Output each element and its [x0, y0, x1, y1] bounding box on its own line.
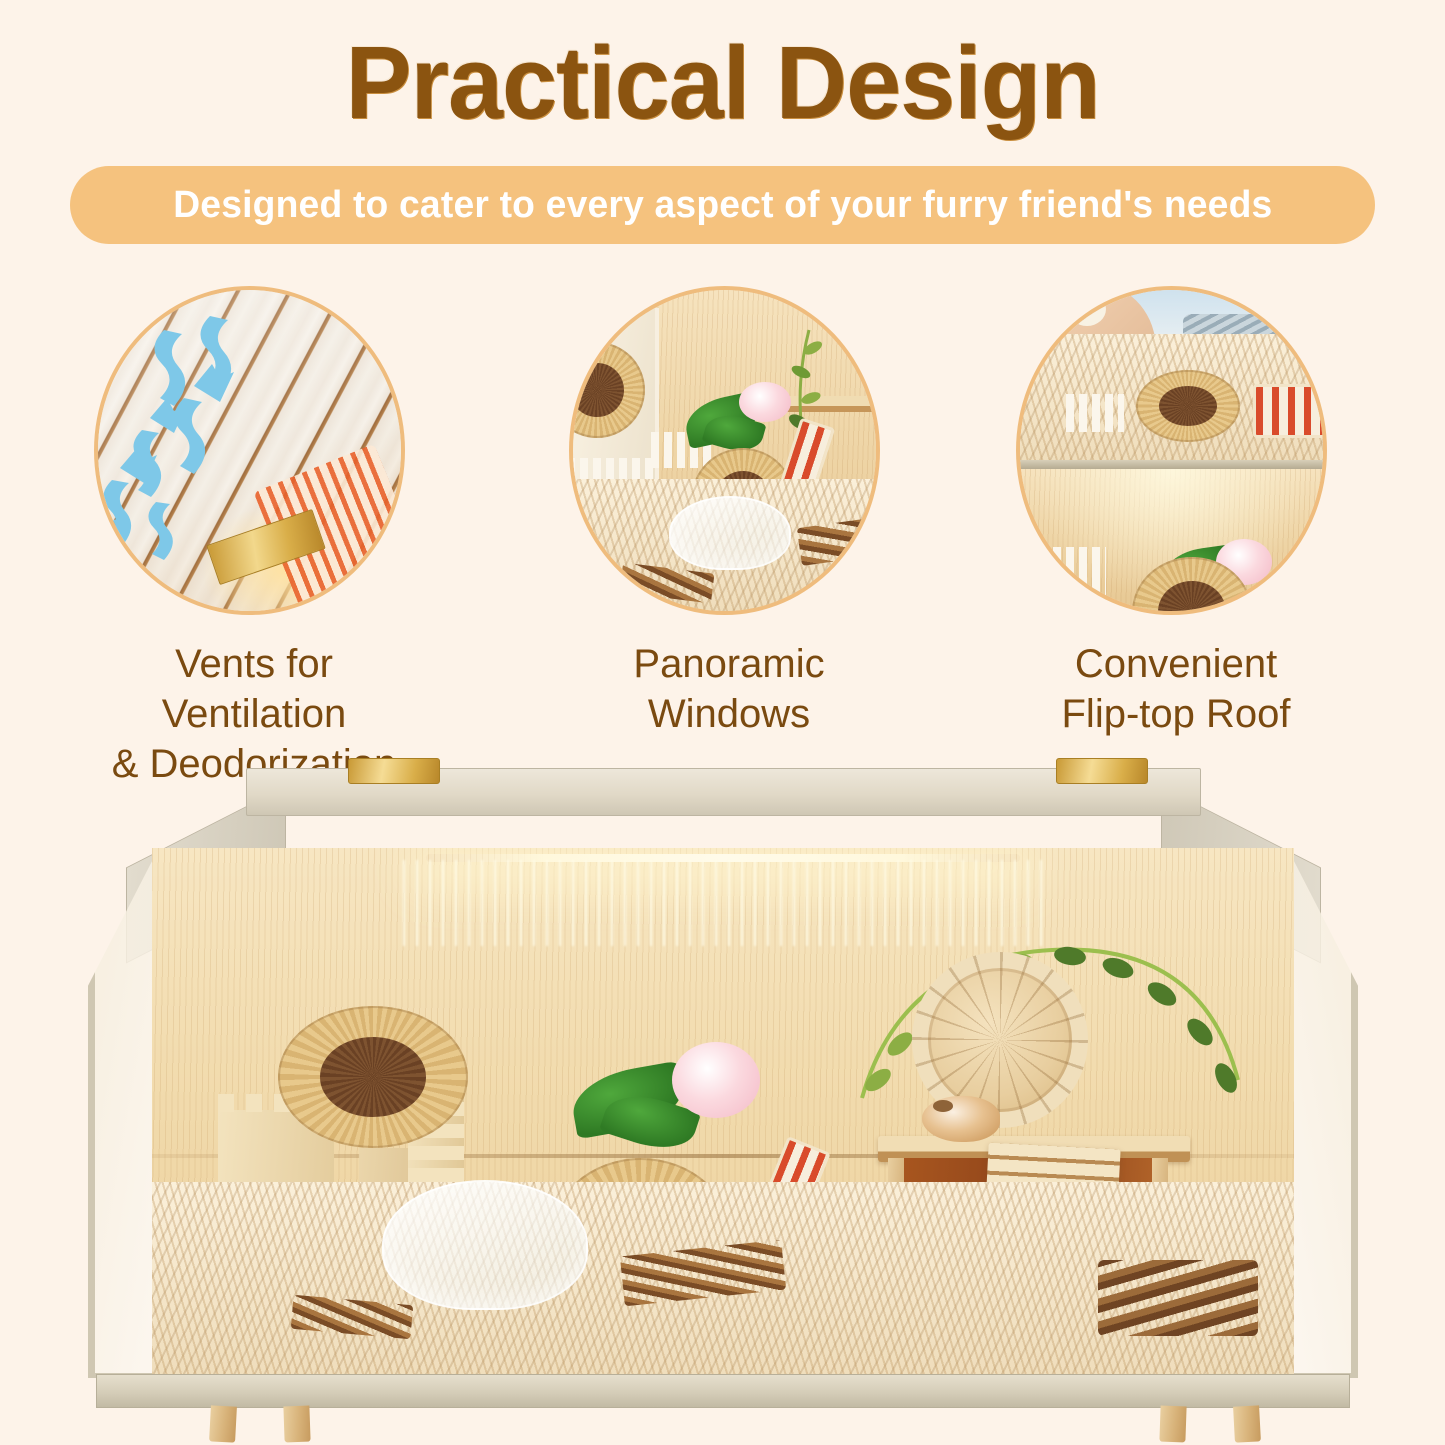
- glass-sand-bath-main: [382, 1180, 588, 1310]
- hamster-on-platform: [922, 1096, 1000, 1142]
- cage-leg: [1233, 1405, 1261, 1442]
- product-photo: [88, 752, 1358, 1442]
- glass-sand-bath: [669, 496, 791, 570]
- brass-hinge-right-icon: [1056, 758, 1148, 784]
- bedding-pinch: [1068, 292, 1106, 326]
- frame-rail: [1020, 460, 1323, 469]
- cage-leg: [1159, 1406, 1186, 1443]
- brass-hinge-left-icon: [348, 758, 440, 784]
- feature-flip-top-roof: Convenient Flip-top Roof: [1016, 286, 1336, 739]
- subtitle-text: Designed to cater to every aspect of you…: [173, 184, 1272, 227]
- feature-caption-panoramic-windows: Panoramic Windows: [569, 639, 889, 739]
- cage-interior: [152, 848, 1294, 1378]
- feature-ventilation: Vents for Ventilation & Deodorization: [94, 286, 414, 789]
- lit-interior-view: [1020, 469, 1323, 611]
- apple-wood-logs: [1098, 1260, 1258, 1336]
- white-fence-top: [1066, 394, 1124, 432]
- cage-base-board: [96, 1374, 1350, 1408]
- opened-roof-view: [1020, 290, 1323, 462]
- page-title: Practical Design: [29, 22, 1416, 144]
- cage-leg: [283, 1406, 310, 1443]
- woven-nest-basket: [278, 1006, 468, 1148]
- pink-silk-flower: [672, 1042, 760, 1118]
- cage-leg: [209, 1405, 237, 1442]
- striped-ramp-top: [1253, 384, 1323, 438]
- cage-body: [88, 848, 1358, 1408]
- white-fence-lower: [1020, 547, 1106, 603]
- feature-caption-flip-top-roof: Convenient Flip-top Roof: [1016, 639, 1336, 739]
- woven-nest-top: [1136, 370, 1240, 442]
- feature-image-panoramic-windows: [569, 286, 880, 615]
- feature-image-flip-top-roof: [1016, 286, 1327, 615]
- subtitle-banner: Designed to cater to every aspect of you…: [70, 166, 1375, 244]
- feature-panoramic-windows: Panoramic Windows: [569, 286, 889, 739]
- feature-image-ventilation: [94, 286, 405, 615]
